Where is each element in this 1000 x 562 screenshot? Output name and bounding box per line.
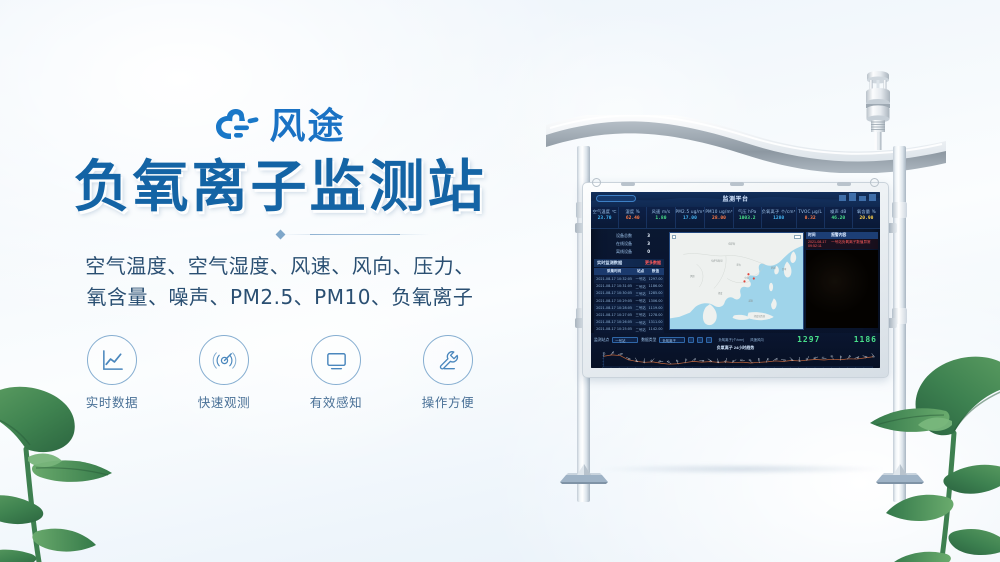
kpi-card[interactable]: 湿度 % 62.40 bbox=[619, 207, 647, 228]
table-cell: 二号站 bbox=[634, 326, 647, 333]
table-cell: 2021-08-17 10:32:05 bbox=[594, 275, 634, 282]
brand-logo: 风途 bbox=[0, 104, 560, 150]
kpi-card[interactable]: PM10 ug/m³ 28.00 bbox=[705, 207, 733, 228]
fengtu-cloud-logo-icon bbox=[214, 108, 260, 146]
dashboard-title: 监测平台 bbox=[722, 194, 748, 203]
alert-time: 2021-08-17 09:52:11 bbox=[808, 240, 831, 248]
column-header: 数值 bbox=[647, 268, 664, 275]
svg-text:越南: 越南 bbox=[748, 298, 753, 302]
kpi-value: 0.32 bbox=[797, 215, 824, 223]
datatype-select-label: 数据类型 bbox=[641, 337, 656, 343]
table-row[interactable]: 2021-08-17 10:26:05一号站1311.00 bbox=[594, 319, 664, 326]
svg-text:哈萨克斯坦: 哈萨克斯坦 bbox=[711, 258, 723, 262]
stat-value: 3 bbox=[647, 241, 650, 247]
mount-bracket-icon bbox=[888, 318, 897, 328]
feature-item-effective-sensing[interactable]: 有效感知 bbox=[297, 335, 375, 411]
column-header: 采集时间 bbox=[594, 268, 634, 275]
table-cell: 1311.00 bbox=[647, 319, 664, 326]
kpi-card[interactable]: TVOC μg/L 0.32 bbox=[797, 207, 825, 228]
table-cell: 一号站 bbox=[634, 275, 647, 282]
kpi-strip: 空气温度 ℃ 23.70 湿度 % 62.40 风速 m/s 1.80 PM2.… bbox=[591, 207, 880, 229]
marketing-copy-block: 风途 负氧离子监测站 空气温度、空气湿度、风速、风向、压力、 氧含量、噪声、PM… bbox=[0, 104, 560, 411]
stat-label: 离线设备 bbox=[616, 249, 632, 255]
station-select[interactable]: 一号站 bbox=[612, 337, 638, 343]
brand-name: 风途 bbox=[269, 109, 345, 145]
monitor-icon bbox=[311, 335, 361, 385]
stat-row: 在线设备 3 bbox=[594, 240, 664, 248]
kpi-value: 20.90 bbox=[853, 215, 880, 223]
radar-sensing-icon bbox=[199, 335, 249, 385]
banner-canvas: 风途 负氧离子监测站 空气温度、空气湿度、风速、风向、压力、 氧含量、噪声、PM… bbox=[0, 0, 1000, 562]
table-cell: 2021-08-17 10:30:05 bbox=[594, 290, 634, 297]
svg-text:韩国: 韩国 bbox=[771, 265, 776, 269]
table-cell: 1119.00 bbox=[647, 304, 664, 311]
ultrasonic-weather-sensor-icon bbox=[858, 68, 898, 150]
table-cell: 1186.00 bbox=[647, 283, 664, 290]
kpi-card[interactable]: 氧含量 % 20.90 bbox=[853, 207, 880, 228]
column-header: 报警内容 bbox=[831, 233, 846, 238]
chart-controls: 监测站点 一号站 数据类型 负氧离子 负氧离子(个/cm³) 风速风向 1297… bbox=[594, 335, 877, 344]
feature-item-fast-observation[interactable]: 快速观测 bbox=[185, 335, 263, 411]
kpi-card[interactable]: 风速 m/s 1.80 bbox=[647, 207, 675, 228]
lifting-eyelet-icon bbox=[592, 178, 601, 187]
alert-panel: 时间 报警内容 2021-08-17 09:52:11 一号站负氧离子数值异常 bbox=[806, 229, 880, 333]
station-select-label: 监测站点 bbox=[594, 337, 609, 343]
kpi-card[interactable]: 负氧离子 个/cm³ 1280 bbox=[762, 207, 797, 228]
map-layer-button[interactable] bbox=[672, 235, 676, 239]
map-zoom-controls[interactable] bbox=[794, 235, 801, 239]
svg-text:中国: 中国 bbox=[744, 275, 749, 279]
camera-video-feed[interactable] bbox=[806, 250, 878, 328]
stat-row: 设备总数 3 bbox=[594, 232, 664, 240]
feature-label: 快速观测 bbox=[185, 392, 263, 411]
svg-text:俄罗斯: 俄罗斯 bbox=[729, 241, 736, 245]
table-cell: 1297.00 bbox=[647, 275, 664, 282]
kpi-value: 62.40 bbox=[619, 215, 646, 223]
table-cell: 2021-08-17 10:28:05 bbox=[594, 304, 634, 311]
svg-text:印度尼西亚: 印度尼西亚 bbox=[754, 314, 766, 318]
legend-entry: 风速风向 bbox=[750, 337, 764, 342]
table-cell: 三号站 bbox=[634, 311, 647, 318]
chart-readout-primary: 1297 bbox=[797, 335, 820, 344]
kpi-card[interactable]: 空气温度 ℃ 23.70 bbox=[591, 207, 619, 228]
table-cell: 2021-08-17 10:26:05 bbox=[594, 319, 634, 326]
table-cell: 1142.00 bbox=[647, 326, 664, 333]
svg-text:伊朗: 伊朗 bbox=[690, 274, 695, 278]
legend-entry: 负氧离子(个/cm³) bbox=[718, 337, 744, 342]
feature-list: 实时数据 快速观测 bbox=[0, 335, 560, 411]
table-cell: 2021-08-17 10:25:05 bbox=[594, 326, 634, 333]
dashboard-body: 设备总数 3 在线设备 3 离线设备 0 实时监测数据 更多数据 bbox=[591, 229, 880, 333]
feature-item-easy-operation[interactable]: 操作方便 bbox=[409, 335, 487, 411]
table-cell: 一号站 bbox=[634, 297, 647, 304]
feature-label: 实时数据 bbox=[73, 392, 151, 411]
stat-label: 在线设备 bbox=[616, 241, 632, 247]
trend-chart[interactable]: 00:0001:0002:0003:0004:0005:0006:0007:00… bbox=[594, 351, 877, 368]
column-header: 站点 bbox=[634, 268, 647, 275]
cabinet-clip-icon bbox=[621, 182, 635, 186]
wrench-icon bbox=[423, 335, 473, 385]
station-search-input[interactable] bbox=[596, 195, 636, 202]
table-cell: 二号站 bbox=[634, 304, 647, 311]
chart-readout-secondary: 1186 bbox=[854, 335, 877, 344]
table-header-row: 采集时间 站点 数值 bbox=[594, 268, 664, 275]
cabinet-clip-icon bbox=[837, 182, 851, 186]
column-header: 时间 bbox=[808, 233, 831, 238]
kpi-value: 28.00 bbox=[705, 215, 732, 223]
log-panel-header: 实时监测数据 更多数据 bbox=[594, 259, 664, 267]
table-row[interactable]: 2021-08-17 10:32:05一号站1297.00 bbox=[594, 275, 664, 282]
map-panel[interactable]: 俄罗斯 哈萨克斯坦 蒙古 中国 日本 韩国 印度 越南 印度尼西亚 伊朗 bbox=[667, 229, 806, 333]
kpi-value: 17.00 bbox=[676, 215, 705, 223]
feature-item-realtime-data[interactable]: 实时数据 bbox=[73, 335, 151, 411]
log-more-link[interactable]: 更多数据 bbox=[645, 260, 661, 266]
spec-line-2: 氧含量、噪声、PM2.5、PM10、负氧离子 bbox=[0, 282, 560, 313]
dashboard-header: 监测平台 bbox=[591, 192, 880, 207]
svg-text:印度: 印度 bbox=[718, 291, 723, 295]
table-cell: 二号站 bbox=[634, 283, 647, 290]
feature-label: 操作方便 bbox=[409, 392, 487, 411]
table-row[interactable]: 2021-08-17 10:28:05二号站1119.00 bbox=[594, 304, 664, 311]
table-cell: 2021-08-17 10:29:05 bbox=[594, 297, 634, 304]
svg-text:蒙古: 蒙古 bbox=[737, 263, 742, 267]
chart-button-week[interactable] bbox=[697, 337, 703, 343]
table-row[interactable]: 2021-08-17 10:25:05二号站1142.00 bbox=[594, 326, 664, 333]
chart-button-day[interactable] bbox=[688, 337, 694, 343]
chart-panel: 监测站点 一号站 数据类型 负氧离子 负氧离子(个/cm³) 风速风向 1297… bbox=[591, 333, 880, 368]
datatype-select[interactable]: 负氧离子 bbox=[659, 337, 685, 343]
dashboard-header-icons[interactable] bbox=[839, 193, 876, 201]
kpi-value: 46.20 bbox=[825, 215, 852, 223]
spec-line-1: 空气温度、空气湿度、风速、风向、压力、 bbox=[0, 251, 560, 282]
mount-bracket-icon bbox=[888, 223, 897, 233]
alert-header-row: 时间 报警内容 bbox=[806, 232, 878, 239]
alert-message: 一号站负氧离子数值异常 bbox=[831, 240, 871, 248]
base-plate-icon bbox=[556, 464, 612, 486]
cabinet-clip-icon bbox=[730, 182, 744, 186]
kpi-value: 23.70 bbox=[591, 215, 618, 223]
table-row[interactable]: 2021-08-17 10:31:05二号站1186.00 bbox=[594, 283, 664, 290]
kpi-value: 1003.2 bbox=[734, 215, 761, 223]
monitoring-station-product: 监测平台 空气温度 ℃ 23.70 湿度 % 62.40 风速 m/s 1.80 bbox=[520, 60, 990, 530]
table-cell: 1278.00 bbox=[647, 311, 664, 318]
table-cell: 2021-08-17 10:27:05 bbox=[594, 311, 634, 318]
table-row[interactable]: 2021-08-17 10:30:05三号站1285.00 bbox=[594, 290, 664, 297]
kpi-card[interactable]: 噪声 dB 46.20 bbox=[825, 207, 853, 228]
table-row[interactable]: 2021-08-17 10:27:05三号站1278.00 bbox=[594, 311, 664, 318]
table-cell: 三号站 bbox=[634, 290, 647, 297]
dashboard-screen[interactable]: 监测平台 空气温度 ℃ 23.70 湿度 % 62.40 风速 m/s 1.80 bbox=[591, 192, 880, 368]
kpi-card[interactable]: 气压 hPa 1003.2 bbox=[734, 207, 762, 228]
table-cell: 1306.00 bbox=[647, 297, 664, 304]
kpi-value: 1280 bbox=[762, 215, 796, 223]
svg-text:日本: 日本 bbox=[782, 267, 787, 271]
page-title: 负氧离子监测站 bbox=[0, 158, 560, 217]
table-cell: 1285.00 bbox=[647, 290, 664, 297]
stat-label: 设备总数 bbox=[616, 233, 632, 239]
table-row[interactable]: 2021-08-17 10:29:05一号站1306.00 bbox=[594, 297, 664, 304]
spec-list: 空气温度、空气湿度、风速、风向、压力、 氧含量、噪声、PM2.5、PM10、负氧… bbox=[0, 251, 560, 313]
chart-button-month[interactable] bbox=[706, 337, 712, 343]
kpi-value: 1.80 bbox=[647, 215, 674, 223]
table-cell: 一号站 bbox=[634, 319, 647, 326]
title-divider bbox=[130, 229, 430, 241]
device-stats-panel: 设备总数 3 在线设备 3 离线设备 0 实时监测数据 更多数据 bbox=[591, 229, 667, 333]
base-plate-icon bbox=[872, 464, 928, 486]
lifting-eyelet-icon bbox=[870, 178, 879, 187]
alert-row[interactable]: 2021-08-17 09:52:11 一号站负氧离子数值异常 bbox=[806, 239, 878, 249]
log-panel-title: 实时监测数据 bbox=[597, 260, 622, 266]
table-cell: 2021-08-17 10:31:05 bbox=[594, 283, 634, 290]
line-chart-icon bbox=[87, 335, 137, 385]
stat-value: 0 bbox=[647, 249, 650, 255]
kpi-card[interactable]: PM2.5 ug/m³ 17.00 bbox=[676, 207, 706, 228]
stat-row: 离线设备 0 bbox=[594, 248, 664, 256]
asia-map[interactable]: 俄罗斯 哈萨克斯坦 蒙古 中国 日本 韩国 印度 越南 印度尼西亚 伊朗 bbox=[669, 232, 804, 330]
feature-label: 有效感知 bbox=[297, 392, 375, 411]
stat-value: 3 bbox=[647, 233, 650, 239]
